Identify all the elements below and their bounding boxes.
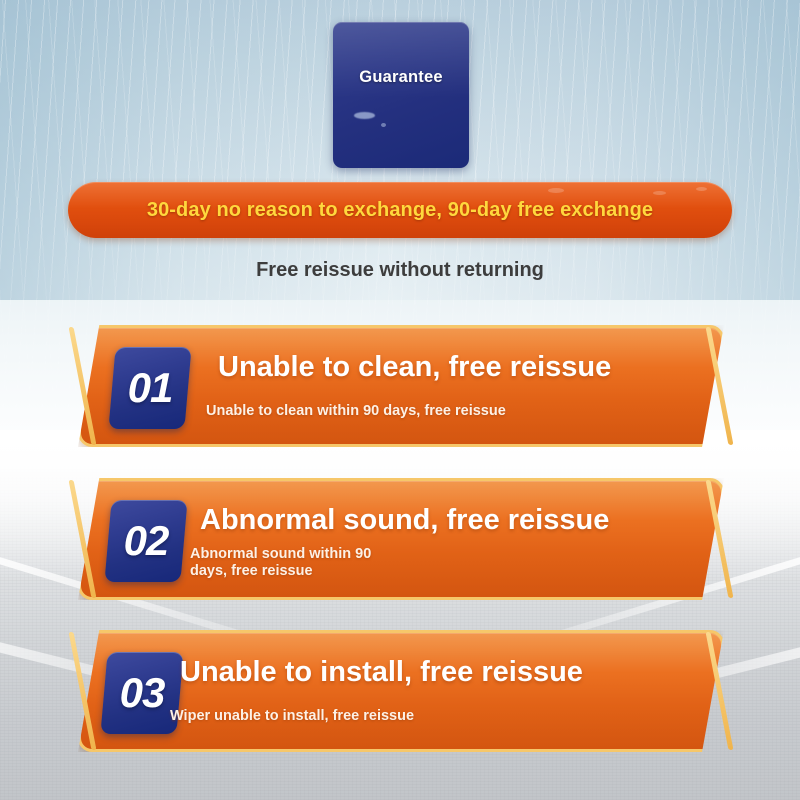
benefit-number-label: 03 [104, 652, 180, 734]
guarantee-badge-label: Guarantee [333, 68, 469, 87]
benefit-title: Unable to install, free reissue [180, 656, 583, 689]
benefit-subtitle: Unable to clean within 90 days, free rei… [206, 403, 506, 419]
benefit-title: Abnormal sound, free reissue [200, 504, 609, 537]
exchange-policy-banner-text: 30-day no reason to exchange, 90-day fre… [68, 199, 732, 222]
water-droplet-small-icon [381, 123, 386, 127]
benefit-number-label: 01 [112, 347, 188, 429]
benefit-number-label: 02 [108, 500, 184, 582]
benefit-row: 02 Abnormal sound, free reissue Abnormal… [0, 478, 800, 603]
benefit-row: 01 Unable to clean, free reissue Unable … [0, 325, 800, 450]
benefit-subtitle: Abnormal sound within 90 days, free reis… [190, 546, 380, 580]
benefit-subtitle: Wiper unable to install, free reissue [170, 708, 414, 724]
water-droplet-icon [548, 188, 564, 193]
benefit-row: 03 Unable to install, free reissue Wiper… [0, 630, 800, 755]
water-droplet-icon [696, 187, 707, 191]
benefit-number-badge: 02 [104, 500, 187, 582]
water-droplet-icon [653, 191, 666, 195]
guarantee-badge: Guarantee [333, 22, 469, 168]
exchange-policy-banner: 30-day no reason to exchange, 90-day fre… [68, 182, 732, 238]
free-reissue-subheading: Free reissue without returning [0, 259, 800, 282]
benefit-number-badge: 01 [108, 347, 191, 429]
promo-poster: Guarantee 30-day no reason to exchange, … [0, 0, 800, 800]
benefit-title: Unable to clean, free reissue [218, 351, 611, 384]
water-droplet-icon [354, 112, 375, 119]
